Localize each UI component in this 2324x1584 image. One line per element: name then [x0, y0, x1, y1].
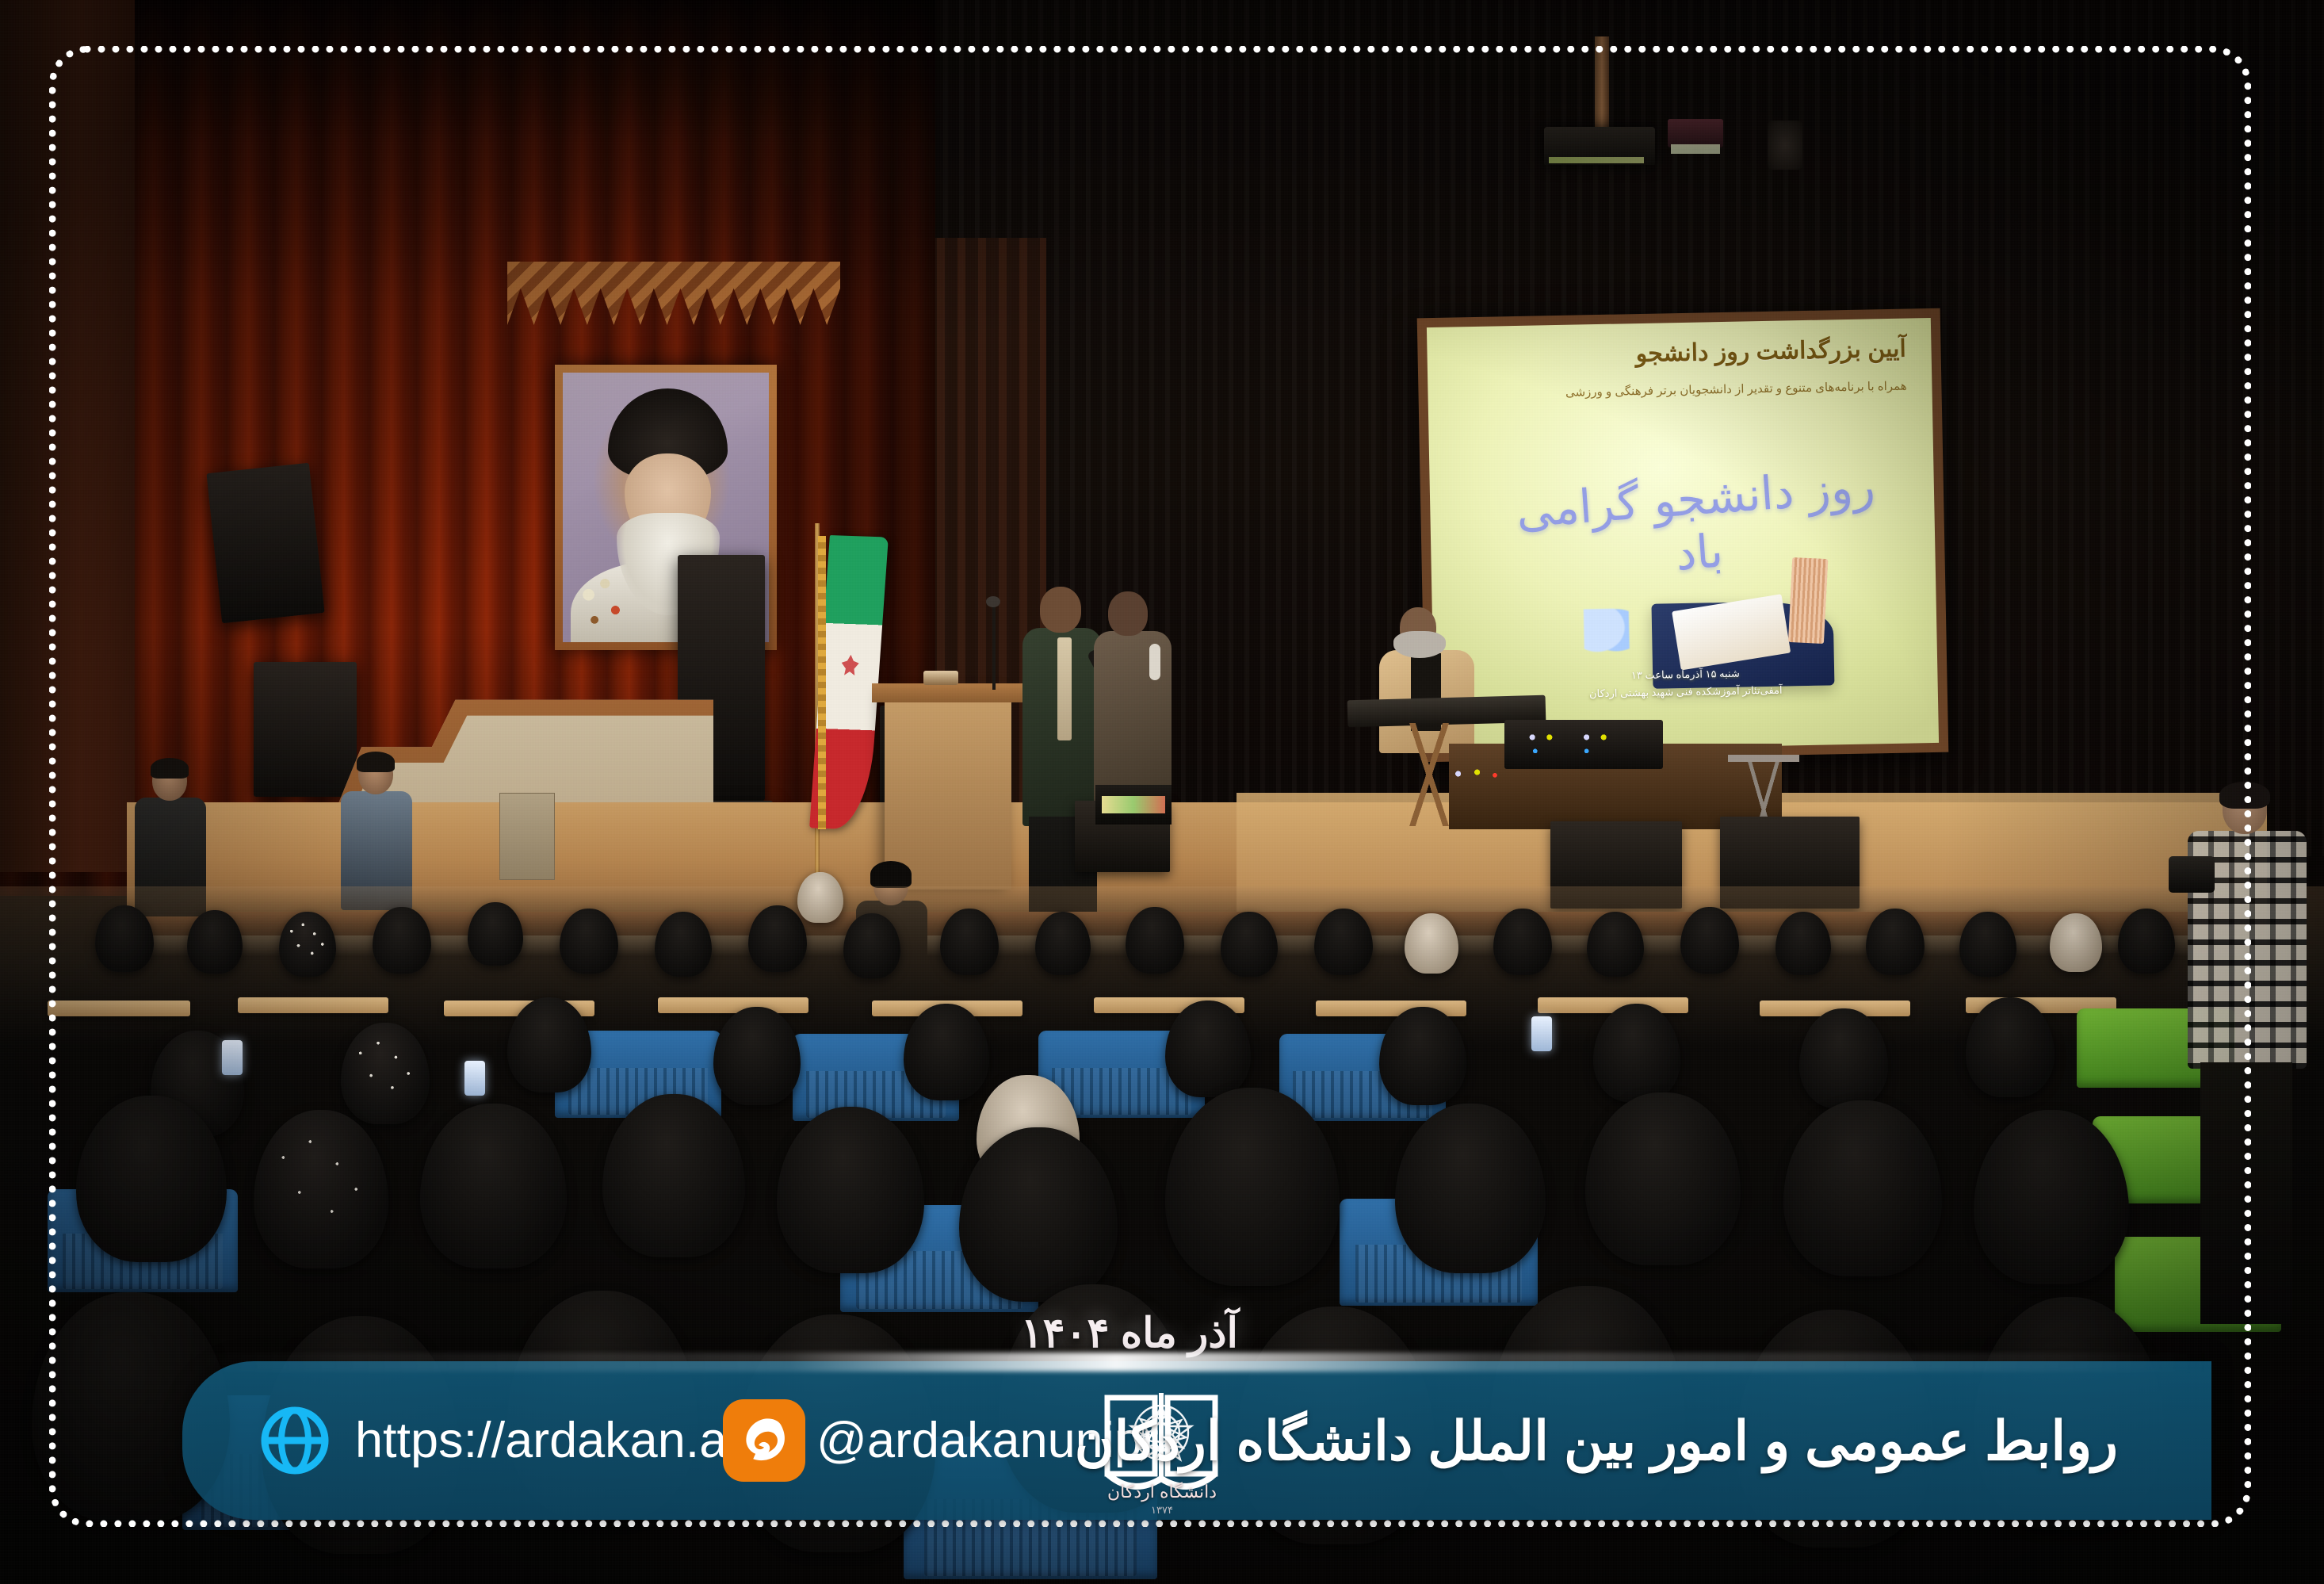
- audience-head: [1221, 912, 1278, 977]
- podium-microphone: [986, 596, 1000, 607]
- audience-head: [187, 910, 243, 974]
- audience-head: [468, 902, 523, 966]
- musician-hair: [1393, 631, 1446, 658]
- audience-head: [1959, 912, 2016, 977]
- attendee-hair: [151, 758, 189, 779]
- standing-photographer: [2188, 785, 2307, 1324]
- audience-head: [1126, 907, 1184, 974]
- globe-icon: [255, 1401, 334, 1480]
- audience-head: [1035, 912, 1091, 975]
- audience-phone-screen: [464, 1061, 485, 1096]
- audience-head: [560, 909, 618, 974]
- university-logo-caption: دانشگاه اردکان: [1094, 1482, 1230, 1502]
- seat-desk-arm: [658, 997, 808, 1013]
- slide-calligraphy-text: روز دانشجو گرامی باد: [1488, 457, 1908, 594]
- audience-head: [373, 907, 431, 974]
- audience-head: [1493, 909, 1552, 975]
- ceiling-speaker: [1768, 121, 1802, 170]
- seat-desk-arm: [48, 1001, 190, 1016]
- audience-head: [1405, 913, 1458, 974]
- university-logo-year: ۱۳۷۴: [1094, 1504, 1230, 1517]
- audience-head: [940, 909, 999, 975]
- slide-title: آیین بزرگداشت روز دانشجو: [1452, 335, 1906, 372]
- screenshot-canvas: آیین بزرگداشت روز دانشجو همراه با برنامه…: [0, 0, 2324, 1584]
- audience-phone-screen: [1531, 1016, 1552, 1051]
- seat-desk-arm: [238, 997, 388, 1013]
- audience-head: [2050, 913, 2102, 972]
- mixer-led-indicators: [1512, 729, 1655, 759]
- wall-speaker: [254, 662, 357, 797]
- amplifier-led-indicators: [1444, 764, 1508, 783]
- stage-laptop: [1095, 785, 1172, 825]
- audience-head: [2118, 909, 2175, 974]
- audience-head: [95, 905, 154, 972]
- slide-butterfly-graphic: [1584, 608, 1630, 656]
- audience-head: [1866, 909, 1925, 975]
- presenter-head: [1108, 591, 1148, 636]
- flag-fringe: [818, 536, 826, 829]
- audience-head: [655, 912, 712, 977]
- audience-head: [1680, 907, 1739, 974]
- photographer-hair: [2219, 782, 2270, 809]
- camera: [2169, 856, 2215, 893]
- audience-head: [1775, 912, 1831, 975]
- slide-subtitle: همراه با برنامه‌های متنوع و تقدیر از دان…: [1453, 378, 1907, 404]
- podium-cup: [923, 671, 958, 685]
- handheld-microphone: [1149, 644, 1160, 680]
- wall-speaker: [206, 463, 324, 624]
- ceiling-light-fixture: [1668, 119, 1723, 147]
- footer-banner-content: https://ardakan.ac.ir @ardakanunipr: [182, 1361, 2211, 1520]
- audience-head: [279, 912, 336, 977]
- podium-top: [872, 683, 1024, 702]
- attendee-hair: [357, 752, 395, 772]
- audience-head: [797, 872, 843, 923]
- footer-title: روابط عمومی و امور بین الملل دانشگاه ارد…: [1075, 1399, 2118, 1483]
- presenter-tie: [1057, 637, 1072, 740]
- trousers: [2200, 1062, 2292, 1324]
- projection-screen: آیین بزرگداشت روز دانشجو همراه با برنامه…: [1427, 318, 1939, 752]
- audience-head: [843, 913, 900, 978]
- audience-head: [1587, 912, 1644, 977]
- eitaa-icon[interactable]: [723, 1399, 805, 1482]
- stage-vent-panel: [499, 793, 555, 880]
- event-date-caption: آذر ماه ۱۴۰۴: [1021, 1310, 1238, 1357]
- projector-mount-rod: [1595, 36, 1609, 130]
- audience-head: [1314, 909, 1373, 975]
- attendee-headscarf: [870, 861, 912, 888]
- audience-phone-screen: [222, 1040, 243, 1075]
- podium-microphone-stand: [992, 603, 996, 690]
- wall-shadow-column: [0, 0, 135, 872]
- projection-screen-frame: آیین بزرگداشت روز دانشجو همراه با برنامه…: [1417, 308, 1949, 763]
- presenter-head: [1040, 587, 1081, 633]
- audience-head: [748, 905, 807, 972]
- ceiling-projector: [1544, 127, 1655, 165]
- portrait-flowers: [571, 567, 645, 637]
- speaker-podium: [885, 691, 1011, 890]
